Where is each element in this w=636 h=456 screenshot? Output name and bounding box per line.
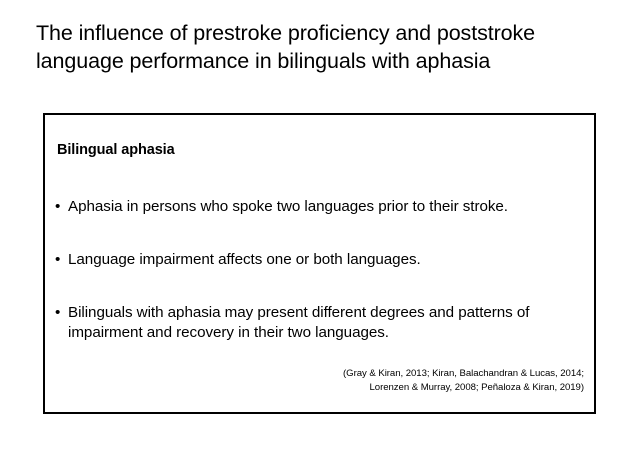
list-item: • Language impairment affects one or bot…	[55, 250, 583, 270]
page-title: The influence of prestroke proficiency a…	[36, 20, 596, 75]
content-box: Bilingual aphasia • Aphasia in persons w…	[43, 113, 596, 414]
bullet-icon: •	[55, 303, 68, 323]
list-item: • Bilinguals with aphasia may present di…	[55, 303, 583, 343]
bullet-icon: •	[55, 250, 68, 270]
citation-block: (Gray & Kiran, 2013; Kiran, Balachandran…	[164, 367, 584, 394]
list-item: • Aphasia in persons who spoke two langu…	[55, 197, 583, 217]
list-item-text: Aphasia in persons who spoke two languag…	[68, 197, 583, 217]
bullet-icon: •	[55, 197, 68, 217]
presentation-slide: The influence of prestroke proficiency a…	[0, 0, 636, 456]
citation-line: Lorenzen & Murray, 2008; Peñaloza & Kira…	[164, 381, 584, 395]
content-box-inner: Bilingual aphasia • Aphasia in persons w…	[45, 115, 594, 412]
content-heading: Bilingual aphasia	[57, 141, 175, 159]
list-item-text: Bilinguals with aphasia may present diff…	[68, 303, 583, 343]
list-item-text: Language impairment affects one or both …	[68, 250, 583, 270]
citation-line: (Gray & Kiran, 2013; Kiran, Balachandran…	[164, 367, 584, 381]
